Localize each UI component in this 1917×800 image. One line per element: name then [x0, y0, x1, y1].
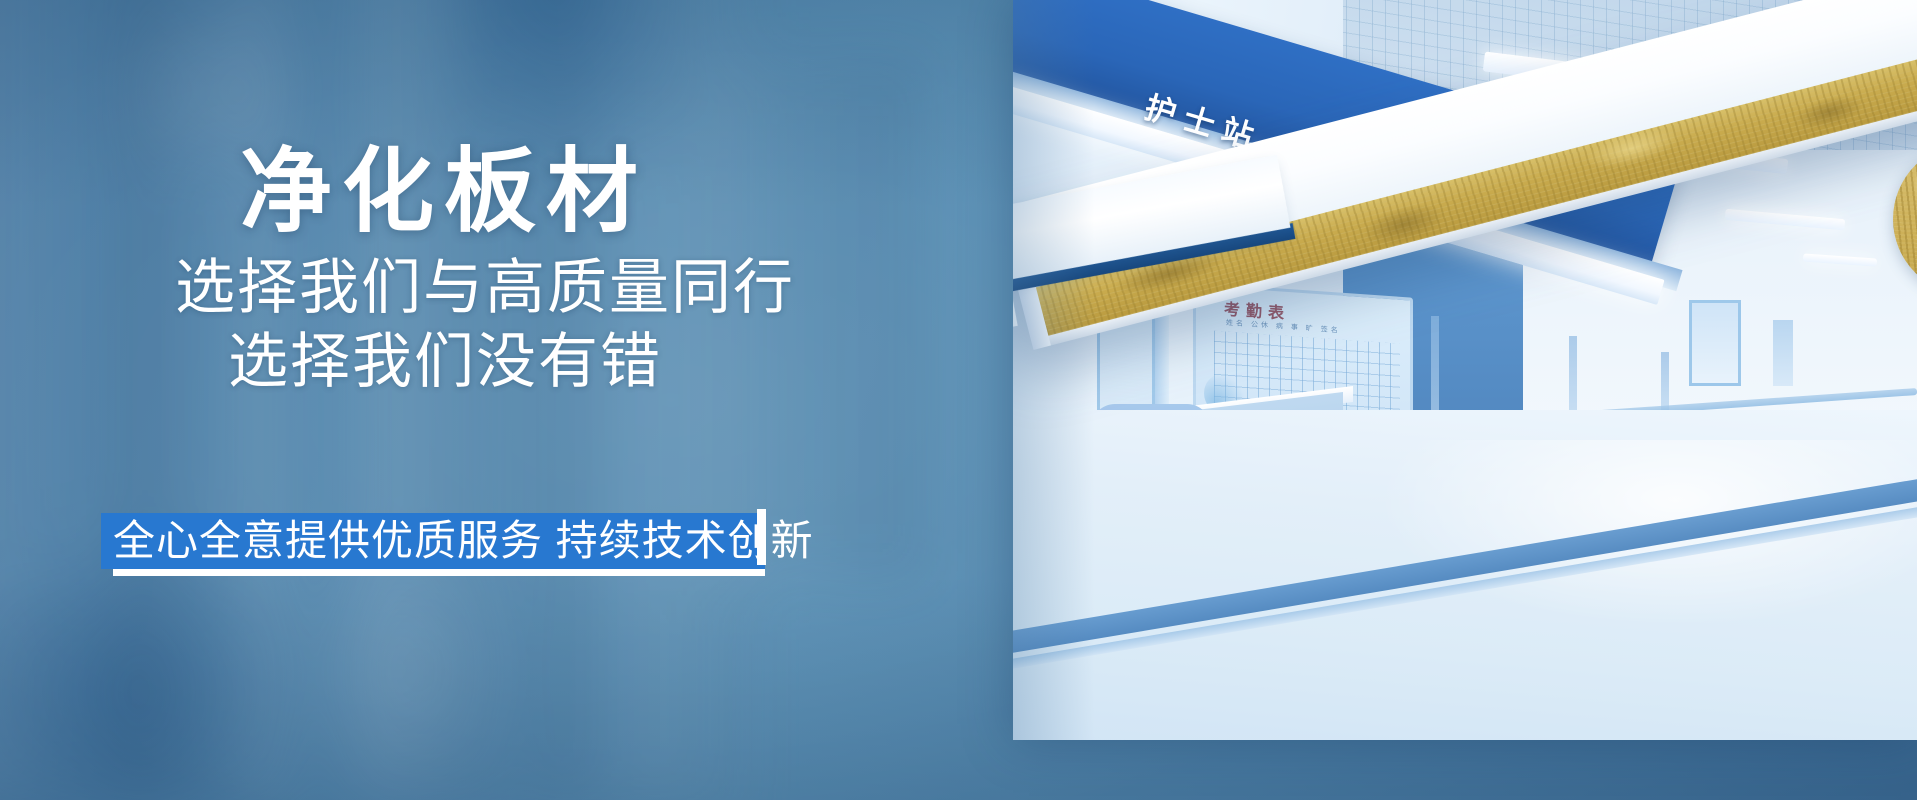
- product-photo: 护士站 Nursing Station 考勤表 姓名 公休 病 事 旷 签名 医…: [1013, 0, 1917, 740]
- tagline-underline-rule: [113, 569, 765, 576]
- tagline-end-tick: [757, 509, 766, 565]
- banner-subheadline-line2: 选择我们没有错: [228, 332, 662, 392]
- promo-banner: 净化板材 选择我们与高质量同行 选择我们没有错 全心全意提供优质服务 持续技术创…: [0, 0, 1917, 800]
- rockwool-detail-circle: [1893, 143, 1917, 295]
- banner-headline: 净化板材: [240, 146, 648, 238]
- banner-tagline: 全心全意提供优质服务 持续技术创新: [113, 520, 814, 562]
- banner-tagline-group: 全心全意提供优质服务 持续技术创新: [101, 513, 765, 569]
- banner-subheadline-line1: 选择我们与高质量同行: [175, 258, 795, 318]
- banner-copy-block: 净化板材 选择我们与高质量同行 选择我们没有错 全心全意提供优质服务 持续技术创…: [0, 0, 830, 800]
- floor-reflection: [1313, 440, 1917, 740]
- product-photo-scene: 护士站 Nursing Station 考勤表 姓名 公休 病 事 旷 签名 医…: [1013, 0, 1917, 740]
- corridor-far-door-2: [1773, 320, 1793, 386]
